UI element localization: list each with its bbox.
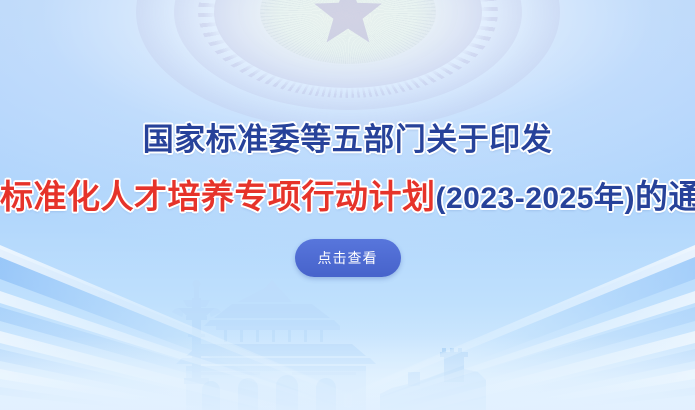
- banner-title-line-2: 标准化人才培养专项行动计划(2023-2025年)的通知: [0, 180, 695, 214]
- view-details-button[interactable]: 点击查看: [295, 239, 401, 277]
- cta-row: 点击查看: [0, 239, 695, 277]
- plan-period-text: (2023-2025年): [436, 182, 635, 215]
- plan-name-text: 标准化人才培养专项行动计划: [0, 178, 436, 215]
- banner-content: 国家标准委等五部门关于印发 标准化人才培养专项行动计划(2023-2025年)的…: [0, 0, 695, 410]
- policy-announcement-banner: 国家标准委等五部门关于印发 标准化人才培养专项行动计划(2023-2025年)的…: [0, 0, 695, 410]
- notice-suffix-text: 的通知: [635, 178, 695, 215]
- banner-title-line-1: 国家标准委等五部门关于印发: [0, 124, 695, 155]
